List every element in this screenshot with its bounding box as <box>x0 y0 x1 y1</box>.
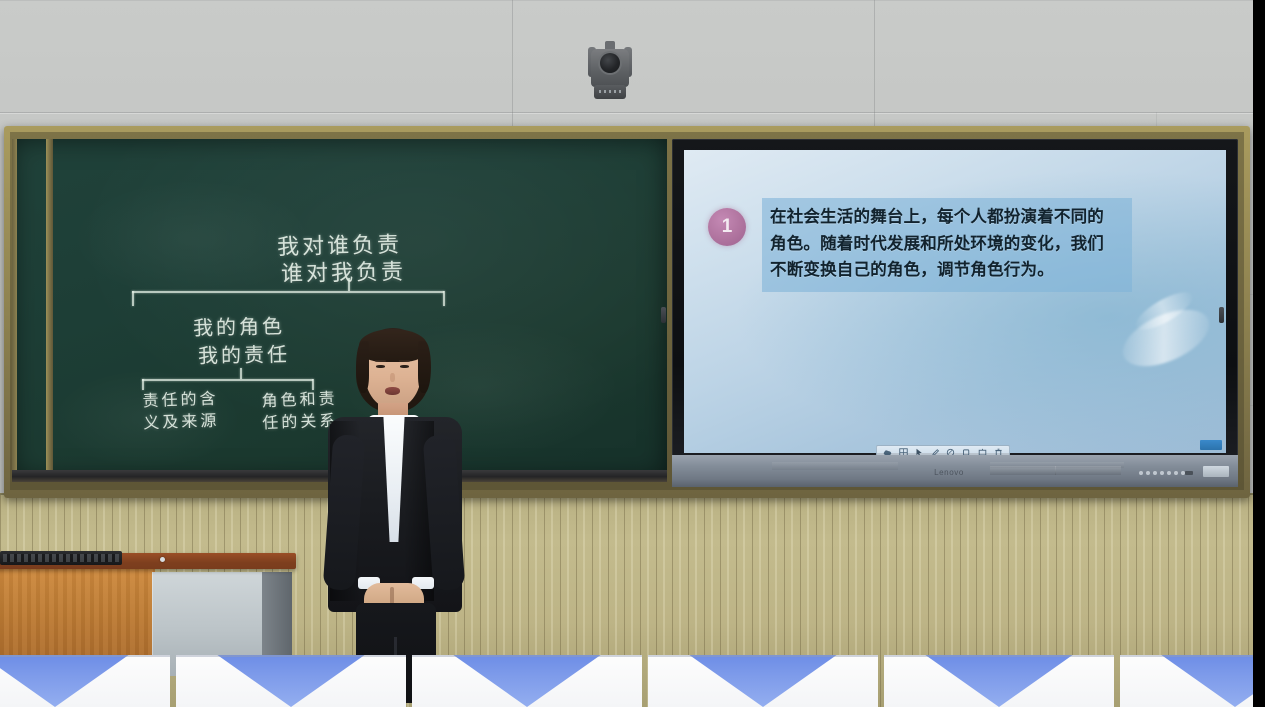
chalk-heading-line2: 谁对我负责 <box>281 254 407 288</box>
teacher <box>300 325 490 670</box>
slide-text-block: 在社会生活的舞台上，每个人都扮演着不同的 角色。随着时代发展和所处环境的变化，我… <box>762 198 1132 292</box>
chalk-connector <box>348 278 350 291</box>
desk <box>0 655 170 707</box>
bezel-button[interactable] <box>1146 471 1150 475</box>
desk <box>648 655 878 707</box>
eye-right <box>400 365 409 368</box>
camera-led-strip <box>599 90 621 93</box>
panel-corner-badge <box>1200 440 1222 450</box>
slide-text-line3: 不断变换自己的角色，调节角色行为。 <box>770 257 1124 284</box>
bezel-button[interactable] <box>1139 471 1143 475</box>
desk <box>412 655 642 707</box>
chalk-connector <box>132 291 444 293</box>
chalk-center-line1: 我的角色 <box>193 310 286 341</box>
student-desks <box>0 655 1253 707</box>
ir-receiver-icon <box>1185 471 1193 475</box>
bezel-button[interactable] <box>1153 471 1157 475</box>
letterbox-right <box>1253 0 1265 707</box>
slide-text-line2: 角色。随着时代发展和所处环境的变化，我们 <box>770 231 1124 258</box>
hair-top <box>359 329 427 362</box>
bezel-vent <box>772 462 898 470</box>
podium-screw <box>160 557 165 562</box>
eyebrow-left <box>375 360 386 362</box>
hair-side-right <box>418 341 431 393</box>
panel-screen[interactable] <box>684 150 1226 453</box>
bezel-vent <box>990 462 1124 468</box>
hair-side-left <box>356 341 369 393</box>
chalk-connector <box>240 368 242 379</box>
desk <box>1120 655 1253 707</box>
bezel-button[interactable] <box>1160 471 1164 475</box>
camera-lens-icon <box>600 53 620 73</box>
keyboard-keys[interactable] <box>3 554 119 562</box>
panel-side-knob <box>1219 307 1224 323</box>
board-slide-rail-left <box>12 139 17 479</box>
chalk-branch-left: 责任的含义及来源 <box>142 389 219 435</box>
classroom-scene: 我对谁负责 谁对我负责 我的角色 我的责任 责任的含义及来源 角色和责任的关系 … <box>0 0 1265 707</box>
nose <box>390 373 395 382</box>
board-side-knob <box>661 307 666 323</box>
brand-logo: Lenovo <box>919 468 979 478</box>
chalk-connector <box>443 291 445 306</box>
bezel-button[interactable] <box>1167 471 1171 475</box>
bezel-button[interactable] <box>1174 471 1178 475</box>
chalk-connector <box>142 379 313 381</box>
bezel-plate <box>1203 466 1229 477</box>
chalk-connector <box>132 291 134 306</box>
chalk-connector <box>142 379 144 390</box>
slide-number-badge: 1 <box>708 208 746 246</box>
chalk-center-line2: 我的责任 <box>198 338 290 369</box>
desk <box>884 655 1114 707</box>
slide-text-line1: 在社会生活的舞台上，每个人都扮演着不同的 <box>770 204 1124 231</box>
mouth <box>385 387 400 395</box>
board-slide-rail <box>46 139 53 479</box>
eye-left <box>376 365 385 368</box>
ptz-camera <box>588 41 632 103</box>
eyebrow-right <box>399 360 410 362</box>
desk <box>176 655 406 707</box>
